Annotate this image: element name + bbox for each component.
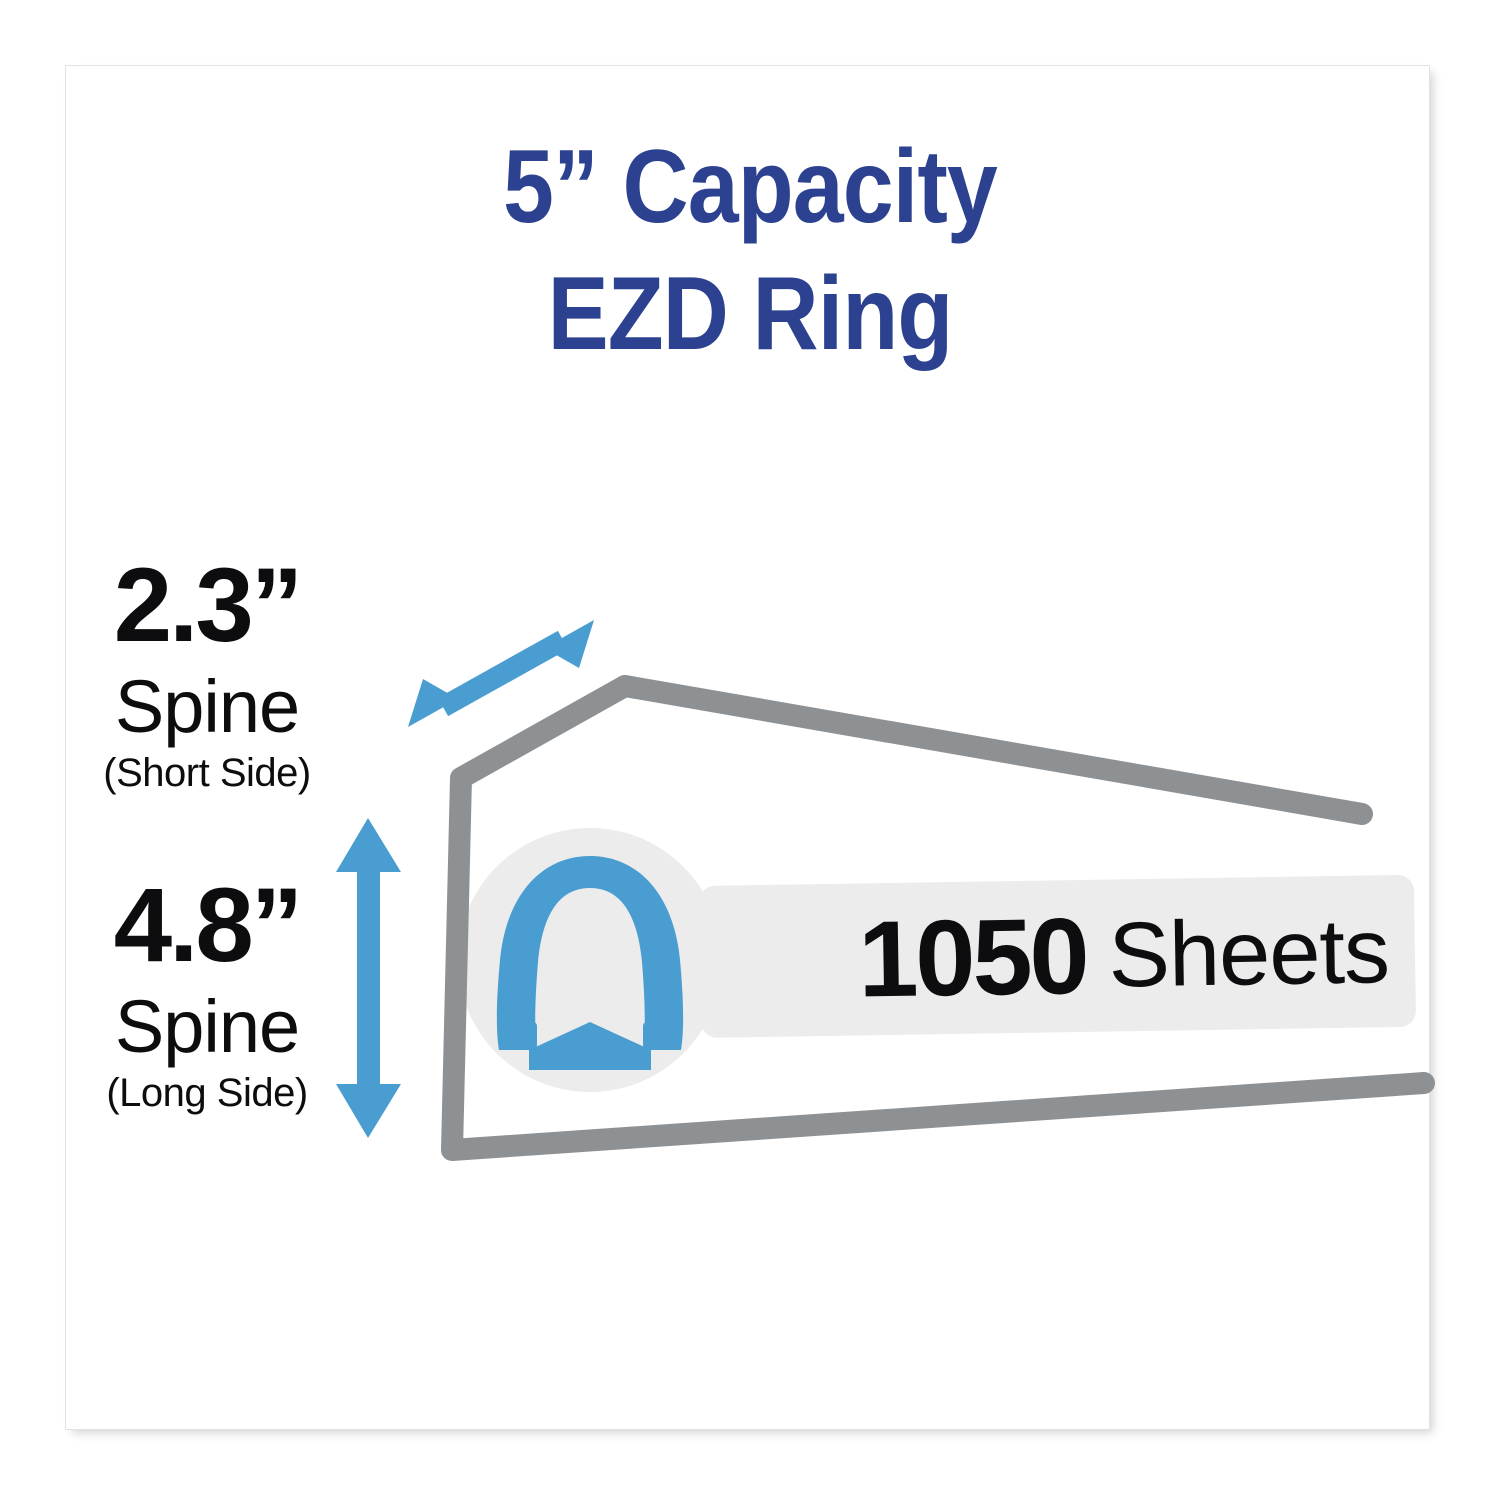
page-title: 5” Capacity EZD Ring xyxy=(90,124,1410,378)
short-side-spine-label: Spine xyxy=(52,668,362,746)
sheet-count-value: 1050 xyxy=(857,902,1087,1014)
headline-line-1: 5” Capacity xyxy=(90,124,1410,251)
sheet-capacity-text: 1050 Sheets xyxy=(699,875,1416,1038)
long-side-spine-label: Spine xyxy=(52,988,362,1066)
long-side-value: 4.8” xyxy=(52,876,362,976)
short-side-value: 2.3” xyxy=(52,556,362,656)
short-side-qualifier: (Short Side) xyxy=(52,751,362,795)
infographic-canvas: 5” Capacity EZD Ring xyxy=(0,0,1500,1500)
long-side-qualifier: (Long Side) xyxy=(52,1071,362,1115)
sheet-count-unit: Sheets xyxy=(1108,905,1390,1001)
headline-line-2: EZD Ring xyxy=(90,251,1410,378)
dimension-label-short-side: 2.3” Spine (Short Side) xyxy=(52,556,362,795)
dimension-label-long-side: 4.8” Spine (Long Side) xyxy=(52,876,362,1115)
